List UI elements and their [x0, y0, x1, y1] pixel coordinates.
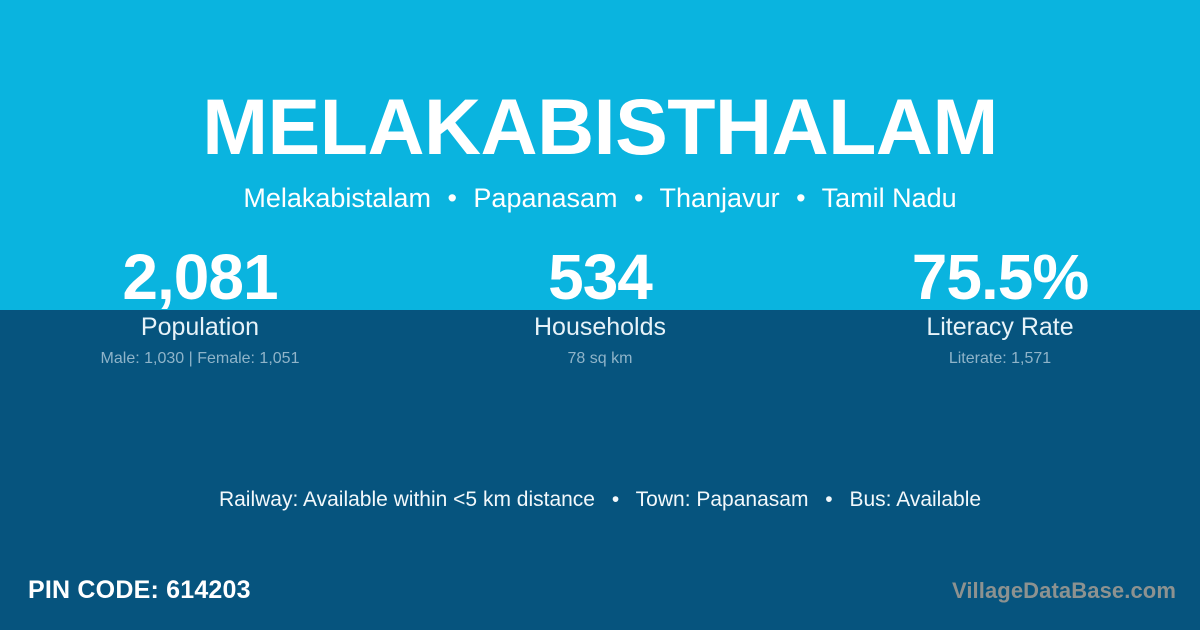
breadcrumb-separator-icon: •: [787, 182, 814, 214]
info-item-bus: Bus: Available: [850, 488, 982, 511]
breadcrumb-separator-icon: •: [625, 182, 652, 214]
info-item-town: Town: Papanasam: [636, 488, 809, 511]
stat-households: 534 Households 78 sq km: [400, 244, 800, 394]
stat-sub-literacy-rate: Literate: 1,571: [800, 349, 1200, 369]
stat-literacy-rate: 75.5% Literacy Rate Literate: 1,571: [800, 244, 1200, 394]
stat-sub-population: Male: 1,030 | Female: 1,051: [0, 349, 400, 369]
info-separator-icon: •: [601, 486, 630, 514]
stat-population: 2,081 Population Male: 1,030 | Female: 1…: [0, 244, 400, 394]
breadcrumb-item-block: Papanasam: [473, 183, 617, 213]
footer: PIN CODE: 614203 VillageDataBase.com: [0, 573, 1200, 609]
breadcrumb-item-district: Thanjavur: [660, 183, 780, 213]
amenities-info-line: Railway: Available within <5 km distance…: [0, 486, 1200, 514]
village-info-card: MELAKABISTHALAM Melakabistalam • Papanas…: [0, 0, 1200, 630]
stat-sub-households: 78 sq km: [400, 349, 800, 369]
page-title: MELAKABISTHALAM: [0, 87, 1200, 166]
stat-label-literacy-rate: Literacy Rate: [800, 312, 1200, 342]
stat-label-households: Households: [400, 312, 800, 342]
breadcrumb-item-village: Melakabistalam: [243, 183, 431, 213]
stat-value-population: 2,081: [0, 244, 400, 310]
breadcrumb: Melakabistalam • Papanasam • Thanjavur •…: [0, 182, 1200, 214]
stat-value-literacy-rate: 75.5%: [800, 244, 1200, 310]
info-separator-icon: •: [814, 486, 843, 514]
site-watermark: VillageDataBase.com: [952, 575, 1176, 607]
info-item-railway: Railway: Available within <5 km distance: [219, 488, 595, 511]
breadcrumb-item-state: Tamil Nadu: [822, 183, 957, 213]
stat-label-population: Population: [0, 312, 400, 342]
stat-value-households: 534: [400, 244, 800, 310]
breadcrumb-separator-icon: •: [438, 182, 465, 214]
pin-code: PIN CODE: 614203: [28, 573, 251, 607]
stats-row: 2,081 Population Male: 1,030 | Female: 1…: [0, 244, 1200, 394]
